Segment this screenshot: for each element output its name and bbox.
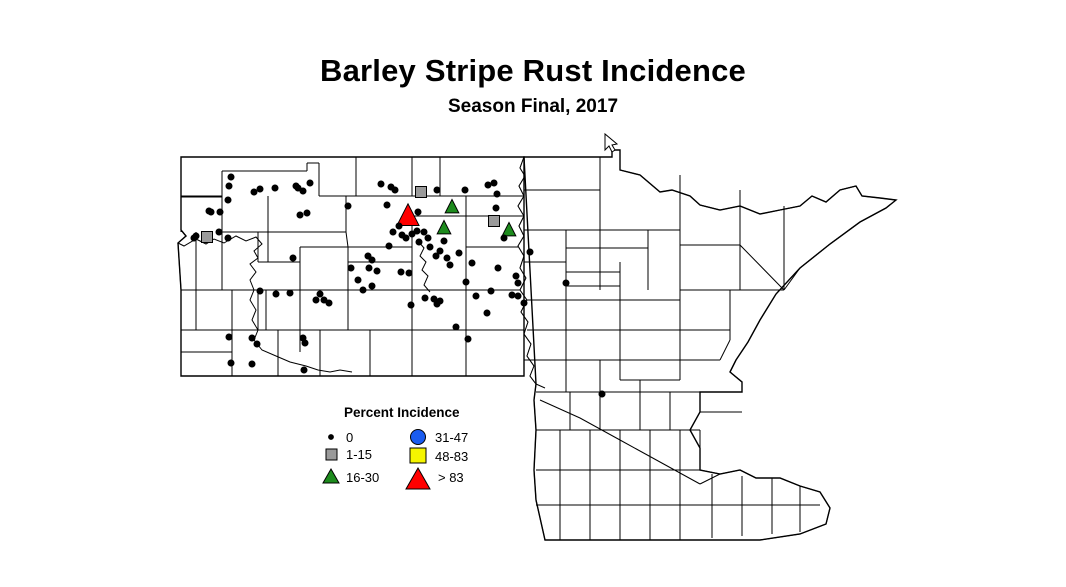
map-point-0	[462, 187, 468, 193]
legend-swatch-blue	[411, 430, 426, 445]
map-point-0	[225, 197, 231, 203]
map-point-0	[273, 291, 279, 297]
map-point-0	[374, 268, 380, 274]
map-point-0	[403, 235, 409, 241]
map-point-0	[249, 361, 255, 367]
map-point-0	[317, 291, 323, 297]
map-point-0	[521, 300, 527, 306]
minnesota-counties	[518, 150, 896, 540]
map-point-0	[228, 360, 234, 366]
map-point-0	[414, 228, 420, 234]
map-point-0	[406, 270, 412, 276]
map-point-0	[463, 279, 469, 285]
map-point-0	[348, 265, 354, 271]
legend-swatch-low	[326, 449, 337, 460]
map-point-0	[378, 181, 384, 187]
legend-label-yellow: 48-83	[435, 449, 468, 464]
map-point-0	[469, 260, 475, 266]
map-point-0	[226, 183, 232, 189]
map-point-0	[398, 269, 404, 275]
map-point-0	[217, 209, 223, 215]
map-point-0	[491, 180, 497, 186]
map-svg: Percent Incidence 0 1-15 16-30 31-47 48-…	[0, 0, 1066, 587]
map-point-0	[563, 280, 569, 286]
map-point-0	[488, 288, 494, 294]
map-point-0	[484, 310, 490, 316]
map-point-0	[441, 238, 447, 244]
map-point-0	[321, 297, 327, 303]
map-point-0	[509, 292, 515, 298]
map-point-0	[191, 235, 197, 241]
legend-swatch-mid	[323, 469, 339, 483]
mn-state-area	[518, 150, 896, 540]
map-point-0	[307, 180, 313, 186]
map-point-0	[434, 187, 440, 193]
map-point-0	[473, 293, 479, 299]
map-point-0	[257, 288, 263, 294]
map-point-0	[216, 229, 222, 235]
map-point-0	[313, 297, 319, 303]
map-point-0	[297, 212, 303, 218]
legend-label-mid: 16-30	[346, 470, 379, 485]
map-point-0	[300, 188, 306, 194]
map-point-0	[416, 239, 422, 245]
legend-swatch-high	[406, 468, 430, 489]
map-point-0	[447, 262, 453, 268]
map-point-0	[599, 391, 605, 397]
map-point-0	[527, 249, 533, 255]
map-point-0	[355, 277, 361, 283]
map-point-0	[345, 203, 351, 209]
map-point-0	[493, 205, 499, 211]
map-point-0	[421, 229, 427, 235]
map-point-0	[228, 174, 234, 180]
map-point-0	[254, 341, 260, 347]
map-point-0	[365, 253, 371, 259]
map-point-0	[453, 324, 459, 330]
map-point-0	[427, 244, 433, 250]
map-point-0	[456, 250, 462, 256]
legend-label-high: > 83	[438, 470, 464, 485]
map-point-0	[390, 229, 396, 235]
map-point-1-15	[416, 187, 427, 198]
legend-label-low: 1-15	[346, 447, 372, 462]
map-point-0	[425, 235, 431, 241]
map-point-0	[408, 302, 414, 308]
map-point-0	[226, 334, 232, 340]
map-point-0	[257, 186, 263, 192]
legend-swatch-zero	[328, 434, 333, 439]
map-point-0	[301, 367, 307, 373]
map-point-0	[501, 235, 507, 241]
map-point-1-15	[489, 216, 500, 227]
map-point-1-15	[202, 232, 213, 243]
legend-label-blue: 31-47	[435, 430, 468, 445]
map-point-0	[366, 265, 372, 271]
map-point-0	[434, 301, 440, 307]
map-point-0	[415, 209, 421, 215]
map-point-0	[495, 265, 501, 271]
map-point-0	[208, 209, 214, 215]
map-point-0	[287, 290, 293, 296]
map-point-0	[386, 243, 392, 249]
map-point-0	[290, 255, 296, 261]
map-point-0	[272, 185, 278, 191]
map-point-0	[396, 223, 402, 229]
map-point-0	[369, 283, 375, 289]
map-point-0	[485, 182, 491, 188]
map-point-0	[384, 202, 390, 208]
map-point-0	[249, 335, 255, 341]
barley-stripe-rust-map-figure: Barley Stripe Rust Incidence Season Fina…	[0, 0, 1066, 587]
map-point-0	[302, 340, 308, 346]
map-point-0	[392, 187, 398, 193]
map-point-0	[444, 255, 450, 261]
legend: Percent Incidence 0 1-15 16-30 31-47 48-…	[323, 405, 468, 489]
map-point-0	[465, 336, 471, 342]
map-point-0	[433, 253, 439, 259]
map-point-0	[513, 273, 519, 279]
legend-swatch-yellow	[410, 448, 426, 463]
map-point-0	[251, 189, 257, 195]
map-point-0	[225, 235, 231, 241]
legend-label-zero: 0	[346, 430, 353, 445]
map-point-0	[360, 287, 366, 293]
map-point-0	[515, 293, 521, 299]
map-point-0	[494, 191, 500, 197]
map-point-0	[304, 210, 310, 216]
map-point-0	[422, 295, 428, 301]
legend-title: Percent Incidence	[344, 405, 460, 420]
map-point-0	[515, 280, 521, 286]
